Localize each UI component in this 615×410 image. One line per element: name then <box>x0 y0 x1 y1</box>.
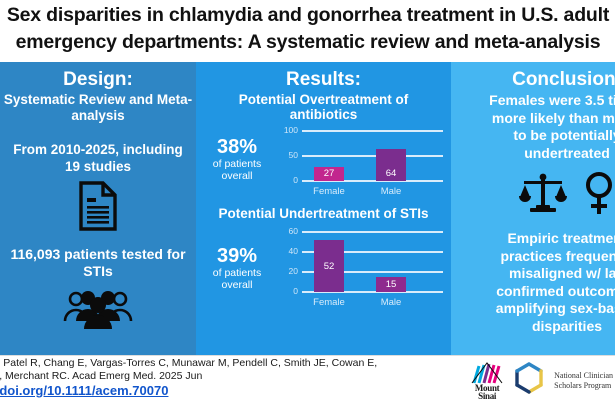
chart1-gridline-100 <box>302 130 443 132</box>
chart1-percent-value: 38% <box>198 136 276 158</box>
chart1-category-male: Male <box>365 186 417 197</box>
conclusion-icon-row <box>451 170 615 216</box>
conclusion-body-line-1: Females were 3.5 times <box>451 92 615 110</box>
chart1-bar-male-value: 64 <box>376 168 406 179</box>
conclusion-heading: Conclusion: <box>451 69 615 91</box>
logos-container: Mount Sinai National Clinician <box>470 361 613 400</box>
conclusion-body-line-4: undertreated <box>451 145 615 163</box>
conclusion-body2-line-6: disparities <box>451 318 615 336</box>
panel-results: Results: Potential Overtreatment of anti… <box>196 62 451 355</box>
panel-conclusion: Conclusion: Females were 3.5 times more … <box>451 62 615 355</box>
chart1-percent-caption-2: overall <box>198 170 276 182</box>
design-studies-line-1: From 2010-2025, including <box>0 141 196 158</box>
chart1-title-line-2: antibiotics <box>196 107 451 122</box>
female-symbol-icon <box>583 184 615 201</box>
chart2-category-female: Female <box>303 297 355 308</box>
document-icon <box>78 218 118 235</box>
chart2-title: Potential Undertreatment of STIs <box>196 206 451 221</box>
chart-overtreatment: 38% of patients overall 100 50 0 27 <box>196 126 451 204</box>
chart2-percent-block: 39% of patients overall <box>198 245 276 291</box>
chart1-ytick-100: 100 <box>276 125 298 135</box>
panel-design: Design: Systematic Review and Meta- anal… <box>0 62 196 355</box>
chart2-bar-male-value: 15 <box>376 279 406 290</box>
chart2-bar-female-value: 52 <box>314 261 344 272</box>
results-heading: Results: <box>196 69 451 91</box>
chart1-plot-area: 100 50 0 27 Female 64 Male <box>276 126 451 204</box>
chart2-ytick-20: 20 <box>276 266 298 276</box>
chart1-ytick-50: 50 <box>276 150 298 160</box>
conclusion-body2-line-3: misaligned w/ lab <box>451 265 615 283</box>
footer: Shah SE, Patel R, Chang E, Vargas-Torres… <box>0 355 615 410</box>
chart2-ytick-60: 60 <box>276 226 298 236</box>
conclusion-body2-line-2: practices frequently <box>451 248 615 266</box>
chart2-percent-caption-2: overall <box>198 279 276 291</box>
chart1-bar-female-value: 27 <box>314 168 344 179</box>
citation: Shah SE, Patel R, Chang E, Vargas-Torres… <box>0 357 356 383</box>
chart1-percent-block: 38% of patients overall <box>198 136 276 182</box>
title-line-2: emergency departments: A systematic revi… <box>0 29 615 56</box>
conclusion-body-line-3: to be potentially <box>451 127 615 145</box>
chart1-title-line-1: Potential Overtreatment of <box>196 92 451 107</box>
chart1-category-female: Female <box>303 186 355 197</box>
people-group-icon <box>62 317 134 334</box>
design-heading: Design: <box>0 69 196 91</box>
ncsp-label-line-1: National Clinician <box>554 371 613 381</box>
citation-line-1: Shah SE, Patel R, Chang E, Vargas-Torres… <box>0 357 356 370</box>
design-subheading-line-1: Systematic Review and Meta- <box>0 92 196 108</box>
panels-container: Design: Systematic Review and Meta- anal… <box>0 62 615 355</box>
design-subheading-line-2: analysis <box>0 108 196 124</box>
ncsp-hexagon-icon <box>512 361 546 400</box>
chart2-percent-value: 39% <box>198 245 276 267</box>
design-patients-line-2: STIs <box>0 263 196 280</box>
people-icon-row <box>0 288 196 335</box>
doi-link[interactable]: https://doi.org/10.1111/acem.70070 <box>0 383 356 398</box>
chart2-ytick-0: 0 <box>276 286 298 296</box>
design-studies-line-2: 19 studies <box>0 158 196 175</box>
chart1-ytick-0: 0 <box>276 175 298 185</box>
mount-sinai-label-line-2: Sinai <box>470 392 504 400</box>
poster-root: Sex disparities in chlamydia and gonorrh… <box>0 0 615 410</box>
chart2-percent-caption-1: of patients <box>198 267 276 279</box>
citation-line-2: Shaw KE, Merchant RC. Acad Emerg Med. 20… <box>0 370 356 383</box>
title-line-1: Sex disparities in chlamydia and gonorrh… <box>0 2 615 29</box>
chart1-gridline-50 <box>302 155 443 157</box>
conclusion-body2-line-5: amplifying sex-based <box>451 300 615 318</box>
footer-divider <box>0 355 615 356</box>
chart2-gridline-60 <box>302 231 443 233</box>
page-title: Sex disparities in chlamydia and gonorrh… <box>0 2 615 56</box>
mount-sinai-logo: Mount Sinai <box>470 362 504 400</box>
conclusion-body2-line-4: confirmed outcomes, <box>451 283 615 301</box>
ncsp-label: National Clinician Scholars Program <box>554 371 613 390</box>
ncsp-label-line-2: Scholars Program <box>554 381 613 391</box>
conclusion-body-line-2: more likely than males <box>451 110 615 128</box>
document-icon-row <box>0 181 196 236</box>
scales-of-justice-icon <box>519 184 571 201</box>
chart2-category-male: Male <box>365 297 417 308</box>
chart1-percent-caption-1: of patients <box>198 158 276 170</box>
conclusion-body2-line-1: Empiric treatment <box>451 230 615 248</box>
chart-undertreatment: 39% of patients overall 60 40 20 0 <box>196 227 451 319</box>
design-patients-line-1: 116,093 patients tested for <box>0 246 196 263</box>
chart2-ytick-40: 40 <box>276 246 298 256</box>
chart2-plot-area: 60 40 20 0 52 Female 1 <box>276 227 451 319</box>
